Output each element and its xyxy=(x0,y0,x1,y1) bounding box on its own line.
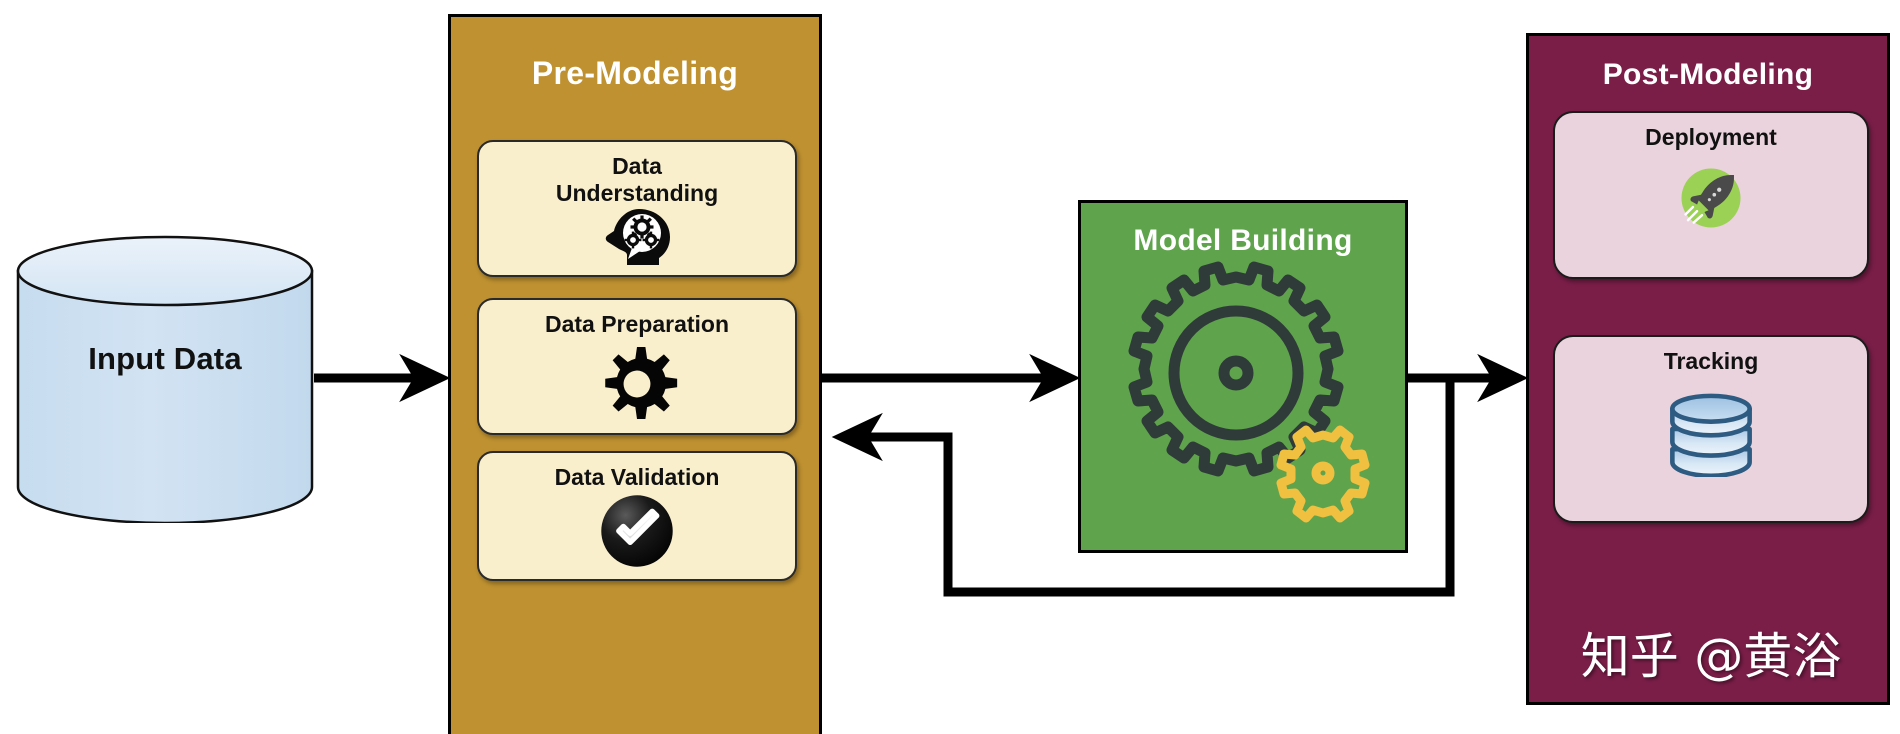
diagram-canvas: Input Data Pre-Modeling Data Understandi… xyxy=(0,0,1900,728)
connector-layer xyxy=(0,0,1900,728)
arrow-feedback-loop-to-pre-modeling xyxy=(841,378,1450,592)
